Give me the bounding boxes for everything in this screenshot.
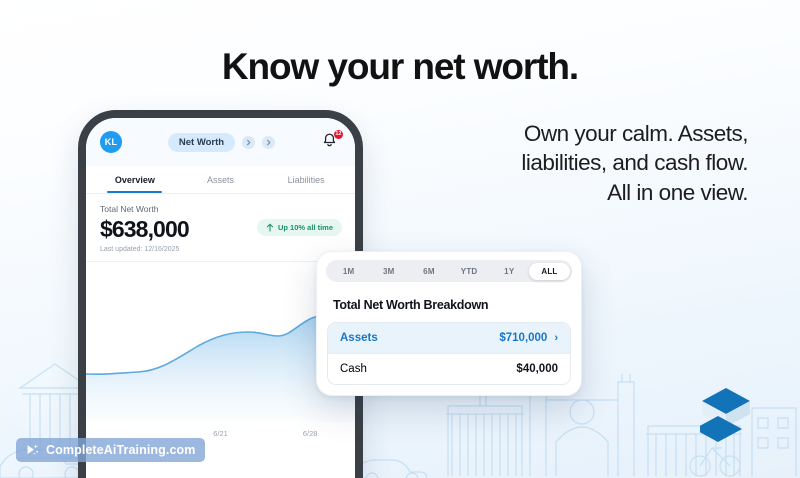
- range-1y[interactable]: 1Y: [489, 263, 529, 280]
- chart-x-tick-2: 6/28: [265, 429, 355, 438]
- range-all[interactable]: ALL: [529, 263, 569, 280]
- tab-overview[interactable]: Overview: [92, 166, 178, 193]
- notifications-button[interactable]: 12: [321, 132, 341, 152]
- chevron-right-icon: ›: [554, 333, 558, 344]
- status-badge-text: Up 10% all time: [278, 223, 333, 232]
- chart-x-axis: 6/21 6/28: [86, 429, 355, 438]
- area-chart: [86, 262, 355, 422]
- range-6m[interactable]: 6M: [409, 263, 449, 280]
- range-1m[interactable]: 1M: [329, 263, 369, 280]
- chart-x-tick-spacer: [86, 429, 176, 438]
- subheading-line-2: liabilities, and cash flow.: [418, 148, 748, 177]
- summary-label: Total Net Worth: [100, 204, 341, 214]
- topbar-nav: Net Worth: [122, 133, 321, 152]
- notification-count-badge: 12: [334, 130, 343, 139]
- tab-liabilities[interactable]: Liabilities: [263, 166, 349, 193]
- subheading-line-1: Own your calm. Assets,: [418, 119, 748, 148]
- chevron-right-icon-next[interactable]: [262, 136, 275, 149]
- breakdown-row-cash[interactable]: Cash $40,000: [328, 353, 570, 384]
- watermark-badge: CompleteAiTraining.com: [16, 438, 205, 462]
- app-top-bar: KL Net Worth 12: [86, 118, 355, 166]
- page-title: Know your net worth.: [0, 48, 800, 87]
- chart-x-tick-1: 6/21: [176, 429, 266, 438]
- chevron-right-icon-prev[interactable]: [242, 136, 255, 149]
- phone-screen: KL Net Worth 12: [86, 118, 355, 478]
- breakdown-list: Assets $710,000 › Cash $40,000: [327, 322, 571, 385]
- isometric-cube-icon: [700, 386, 752, 444]
- subheading: Own your calm. Assets, liabilities, and …: [418, 119, 748, 207]
- sparkle-play-icon: [24, 442, 40, 458]
- breakdown-row-label: Cash: [340, 363, 516, 375]
- net-worth-chart: 6/21 6/28: [86, 261, 355, 446]
- net-worth-breakdown-card: 1M 3M 6M YTD 1Y ALL Total Net Worth Brea…: [316, 251, 582, 396]
- breakdown-row-value: $40,000: [516, 363, 558, 375]
- breakdown-row-label: Assets: [340, 332, 499, 344]
- avatar[interactable]: KL: [100, 131, 122, 153]
- time-range-segmented-control: 1M 3M 6M YTD 1Y ALL: [326, 260, 572, 282]
- breakdown-row-value: $710,000: [499, 332, 547, 344]
- nav-pill-net-worth[interactable]: Net Worth: [168, 133, 235, 152]
- app-tabs: Overview Assets Liabilities: [86, 166, 355, 194]
- summary-updated: Last updated: 12/16/2025: [100, 246, 341, 253]
- range-ytd[interactable]: YTD: [449, 263, 489, 280]
- subheading-line-3: All in one view.: [418, 178, 748, 207]
- range-3m[interactable]: 3M: [369, 263, 409, 280]
- arrow-up-icon: [266, 223, 274, 232]
- promo-graphic: Know your net worth. Own your calm. Asse…: [0, 0, 800, 478]
- status-badge: Up 10% all time: [257, 219, 342, 236]
- watermark-text: CompleteAiTraining.com: [46, 443, 195, 457]
- net-worth-summary: Total Net Worth $638,000 Last updated: 1…: [86, 194, 355, 261]
- tab-assets[interactable]: Assets: [178, 166, 264, 193]
- breakdown-row-assets[interactable]: Assets $710,000 ›: [328, 323, 570, 353]
- breakdown-title: Total Net Worth Breakdown: [317, 282, 581, 322]
